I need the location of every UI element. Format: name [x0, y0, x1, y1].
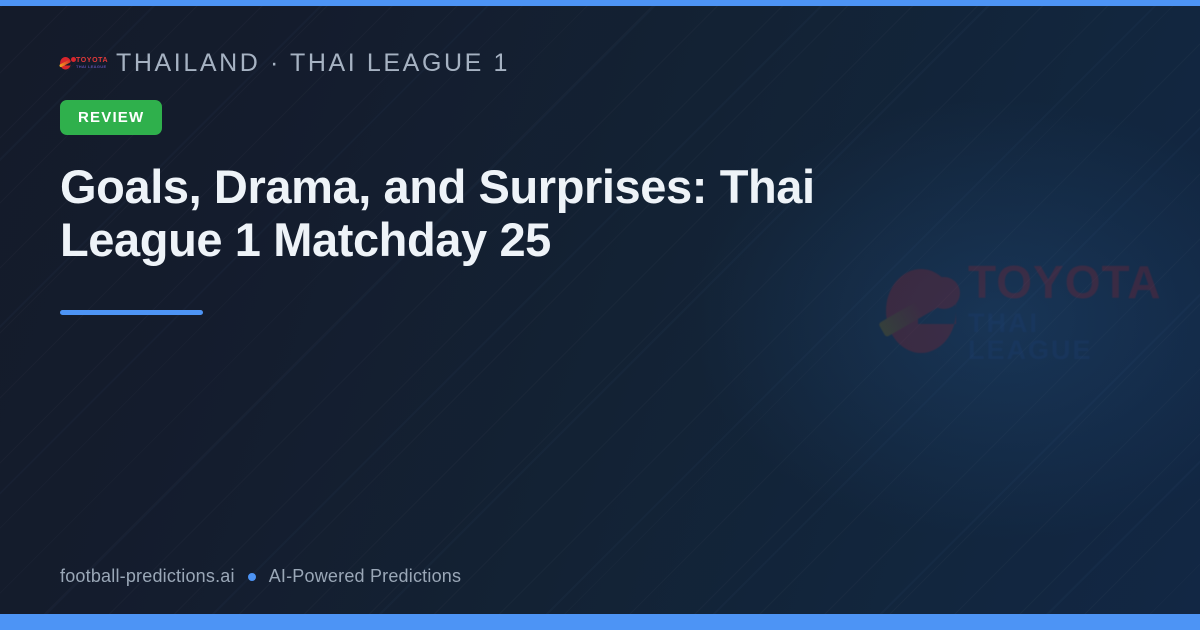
- logo-brand-text: TOYOTA: [76, 57, 108, 64]
- top-accent-bar: [0, 0, 1200, 6]
- logo-subbrand-text: THAI LEAGUE: [76, 65, 108, 69]
- bottom-accent-bar: [0, 614, 1200, 630]
- accent-divider: [60, 310, 203, 315]
- logo-dot-shape: [71, 57, 76, 62]
- bullet-separator-icon: [248, 573, 256, 581]
- toyota-thai-league-logo-icon: TOYOTA THAI LEAGUE: [60, 52, 102, 74]
- footer: football-predictions.ai AI-Powered Predi…: [60, 566, 461, 587]
- logo-wordmark: TOYOTA THAI LEAGUE: [76, 57, 108, 69]
- league-breadcrumb: THAILAND · THAI LEAGUE 1: [116, 49, 510, 78]
- og-share-card: TOYOTA THAI LEAGUE TOYOTA THAI LEAGUE TH…: [0, 0, 1200, 630]
- logo-emblem-icon: [60, 56, 73, 71]
- status-badge: REVIEW: [60, 100, 162, 135]
- page-title: Goals, Drama, and Surprises: Thai League…: [60, 161, 940, 266]
- league-header-row: TOYOTA THAI LEAGUE THAILAND · THAI LEAGU…: [60, 42, 1140, 84]
- card-content: TOYOTA THAI LEAGUE THAILAND · THAI LEAGU…: [0, 0, 1200, 630]
- footer-tagline: AI-Powered Predictions: [269, 566, 462, 587]
- site-name: football-predictions.ai: [60, 566, 235, 587]
